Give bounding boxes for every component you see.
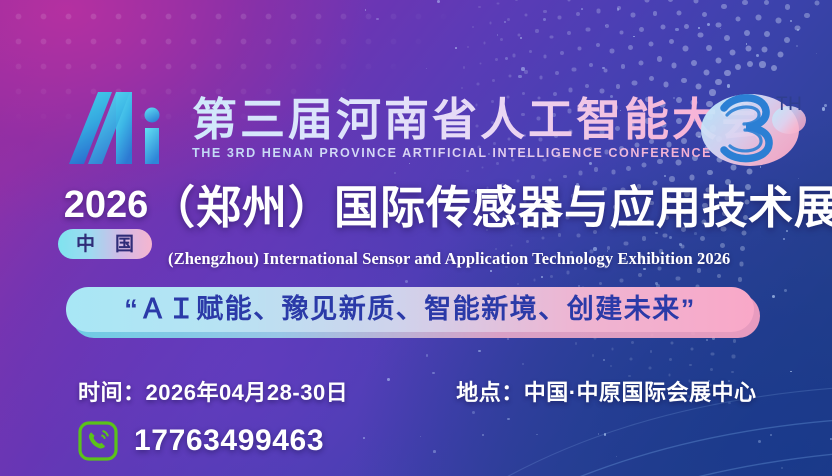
country-badge-char-1: 中	[76, 235, 95, 254]
sparkle-dot	[426, 68, 428, 70]
sparkle-dot	[756, 54, 759, 57]
exhibition-year-block: 2026 中 国	[58, 186, 154, 259]
sparkle-dot	[505, 57, 508, 60]
conference-title-en: THE 3RD HENAN PROVINCE ARTIFICIAL INTELL…	[192, 146, 768, 160]
sparkle-dot	[720, 28, 721, 29]
conference-title-block: 第三届河南省人工智能大会 THE 3RD HENAN PROVINCE ARTI…	[192, 96, 768, 161]
contact-phone-row[interactable]: 17763499463	[78, 421, 324, 461]
sparkle-dot	[824, 104, 827, 107]
sparkle-dot	[497, 34, 498, 35]
sparkle-dot	[679, 243, 682, 246]
sparkle-dot	[405, 280, 408, 283]
sparkle-dot	[746, 43, 748, 45]
sparkle-dot	[698, 27, 701, 30]
phone-call-icon	[78, 421, 118, 461]
sparkle-dot	[816, 53, 817, 54]
conference-title-cn: 第三届河南省人工智能大会	[192, 96, 768, 144]
country-badge-char-2: 国	[115, 235, 134, 254]
country-badge: 中 国	[58, 229, 152, 259]
exhibition-year: 2026	[58, 186, 154, 224]
event-place: 地点：中国·中原国际会展中心	[456, 375, 756, 407]
sparkle-dot	[707, 23, 710, 26]
sparkle-dot	[521, 67, 525, 71]
sparkle-dot	[798, 178, 800, 180]
exhibition-headline-en: (Zhengzhou) International Sensor and App…	[168, 249, 730, 269]
sparkle-dot	[822, 107, 825, 110]
conference-banner: 第三届河南省人工智能大会 THE 3RD HENAN PROVINCE ARTI…	[0, 0, 832, 476]
slogan-text: “ＡＩ赋能、豫见新质、智能新境、创建未来”	[124, 296, 696, 323]
sparkle-dot	[675, 28, 679, 32]
sparkle-dot	[455, 47, 457, 49]
sparkle-dot	[669, 236, 672, 239]
sparkle-dot	[602, 67, 605, 70]
event-info-row: 时间：2026年04月28-30日 地点：中国·中原国际会展中心	[78, 375, 757, 407]
exhibition-headline-cn: （郑州）国际传感器与应用技术展览会	[150, 184, 832, 234]
sparkle-dot	[376, 18, 378, 20]
event-time: 时间：2026年04月28-30日	[78, 375, 348, 407]
sparkle-dot	[796, 45, 798, 47]
sparkle-dot	[543, 18, 546, 21]
edition-badge-suffix: TH	[776, 94, 802, 115]
sparkle-dot	[363, 437, 365, 439]
sparkle-dot	[790, 20, 792, 22]
contact-phone-number: 17763499463	[134, 426, 324, 456]
sparkle-dot	[365, 9, 367, 11]
sparkle-dot	[797, 29, 799, 31]
sparkle-dot	[664, 175, 666, 177]
ai-monogram-logo-icon	[66, 88, 178, 168]
sparkle-dot	[617, 8, 619, 10]
sparkle-dot	[394, 172, 397, 175]
sparkle-dot	[605, 25, 607, 27]
sparkle-dot	[420, 436, 421, 437]
sparkle-dot	[783, 238, 785, 240]
sparkle-dot	[437, 0, 440, 3]
edition-badge-3th: TH	[694, 80, 814, 176]
sparkle-dot	[504, 21, 506, 23]
conference-title-row: 第三届河南省人工智能大会 THE 3RD HENAN PROVINCE ARTI…	[66, 86, 768, 170]
sparkle-dot	[520, 37, 522, 39]
sparkle-dot	[518, 75, 522, 79]
slogan-banner: “ＡＩ赋能、豫见新质、智能新境、创建未来”	[66, 287, 754, 335]
slogan-banner-pill: “ＡＩ赋能、豫见新质、智能新境、创建未来”	[66, 287, 754, 332]
sparkle-dot	[633, 36, 634, 37]
sparkle-dot	[581, 8, 583, 10]
